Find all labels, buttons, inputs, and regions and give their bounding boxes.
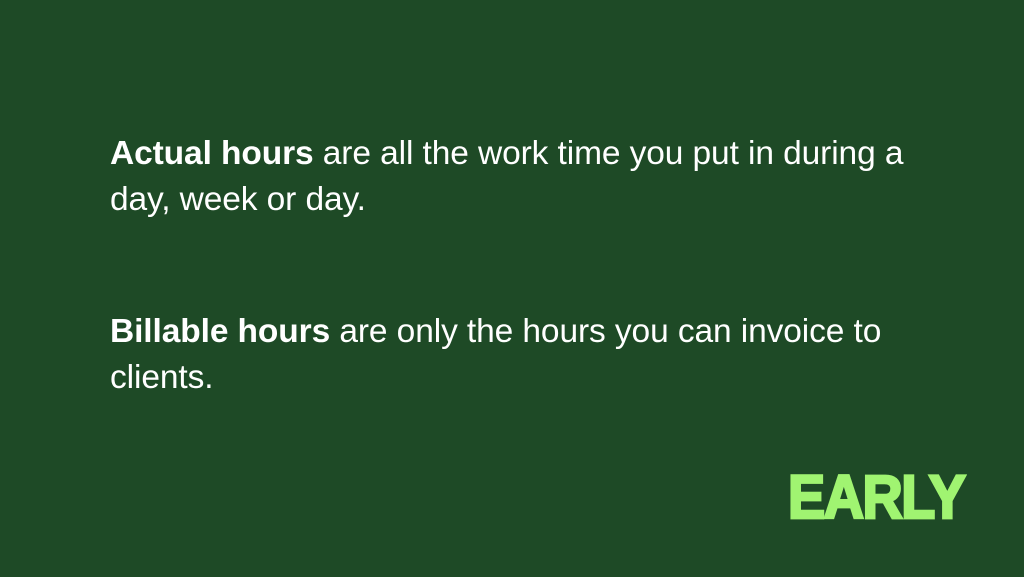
definition-actual-hours-term: Actual hours	[110, 135, 314, 172]
definition-billable-hours: Billable hours are only the hours you ca…	[110, 309, 940, 401]
definition-actual-hours: Actual hours are all the work time you p…	[110, 131, 940, 223]
definitions-copy-block: Actual hours are all the work time you p…	[110, 131, 940, 401]
slide-canvas: Actual hours are all the work time you p…	[0, 0, 1024, 577]
early-logo-wordmark: EARLY	[788, 467, 964, 528]
definition-billable-hours-term: Billable hours	[110, 313, 330, 350]
